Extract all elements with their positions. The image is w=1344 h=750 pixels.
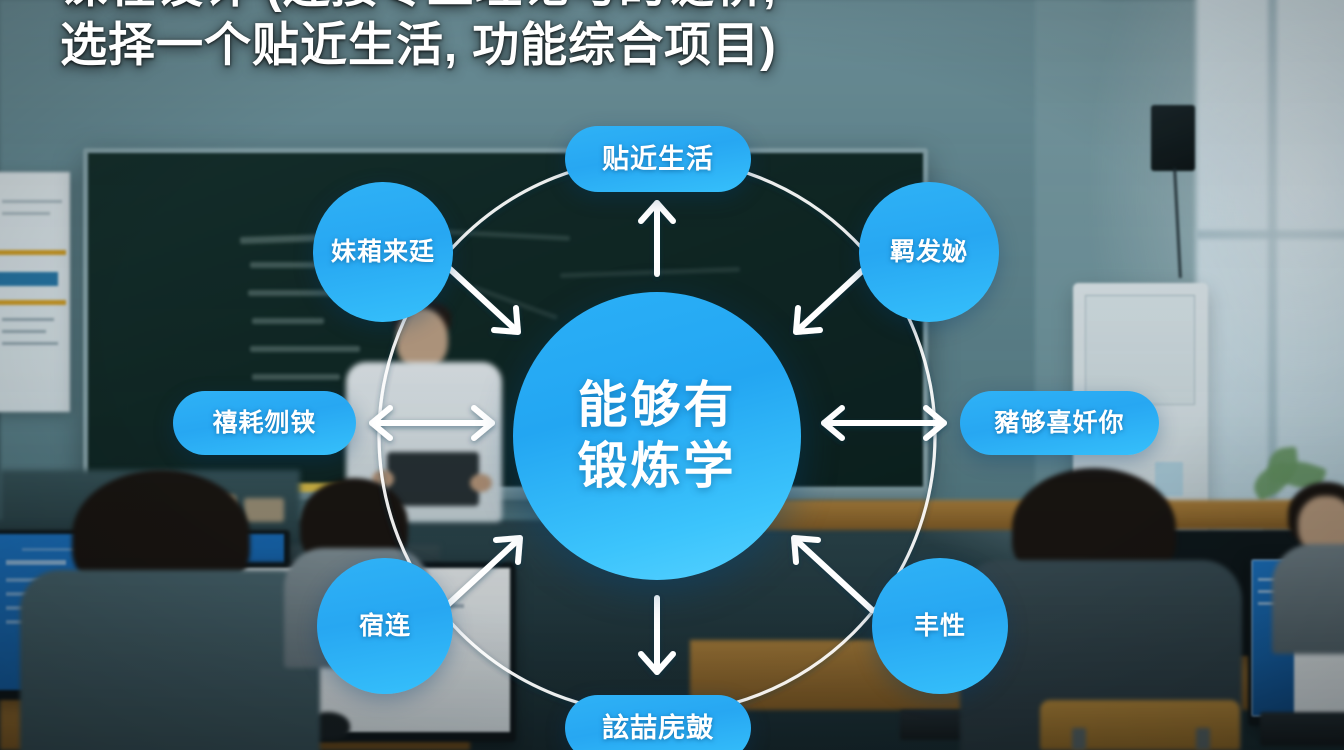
arrow-hub-to-top: [641, 203, 673, 274]
hub-and-spoke-diagram: 能够有 锻炼学 贴近生活 妹葙来廷 羁发妼 禧耗刎铗 豬够喜奷你 宿连 丰性 詃…: [0, 0, 1344, 750]
diagram-hub-node[interactable]: 能够有 锻炼学: [513, 292, 801, 580]
diagram-node-bottom-left-label: 宿连: [359, 612, 411, 640]
diagram-hub-label: 能够有 锻炼学: [578, 375, 737, 497]
diagram-node-top-right[interactable]: 羁发妼: [859, 182, 999, 322]
arrow-left-double: [372, 408, 492, 438]
diagram-node-bottom-left[interactable]: 宿连: [317, 558, 453, 694]
arrow-bottomleft-to-hub: [442, 538, 520, 610]
diagram-node-bottom-label: 詃喆庑皷: [602, 713, 714, 743]
arrow-bottomright-to-hub: [794, 538, 872, 610]
slide-title-line-1: 课程设计 (连接专业理论与的谜桥,: [60, 0, 777, 12]
diagram-node-bottom[interactable]: 詃喆庑皷: [565, 695, 751, 750]
diagram-node-right-label: 豬够喜奷你: [994, 409, 1124, 437]
diagram-node-top-left-label: 妹葙来廷: [331, 238, 435, 266]
diagram-node-bottom-right-label: 丰性: [914, 612, 966, 640]
diagram-node-bottom-right[interactable]: 丰性: [872, 558, 1008, 694]
slide-title-line-2: 选择一个贴近生活, 功能综合项目): [60, 18, 777, 71]
slide-title: 课程设计 (连接专业理论与的谜桥,选择一个贴近生活, 功能综合项目): [60, 0, 1190, 74]
slide-canvas: 能够有 锻炼学 贴近生活 妹葙来廷 羁发妼 禧耗刎铗 豬够喜奷你 宿连 丰性 詃…: [0, 0, 1344, 750]
diagram-node-right[interactable]: 豬够喜奷你: [960, 391, 1159, 455]
diagram-node-top-left[interactable]: 妹葙来廷: [313, 182, 453, 322]
diagram-node-top-label: 贴近生活: [602, 144, 714, 174]
arrow-right-double: [824, 408, 944, 438]
arrow-hub-to-bottom: [641, 598, 673, 672]
diagram-node-left-label: 禧耗刎铗: [212, 409, 316, 437]
diagram-node-top-right-label: 羁发妼: [890, 238, 968, 266]
diagram-node-left[interactable]: 禧耗刎铗: [173, 391, 356, 455]
diagram-node-top[interactable]: 贴近生活: [565, 126, 751, 192]
